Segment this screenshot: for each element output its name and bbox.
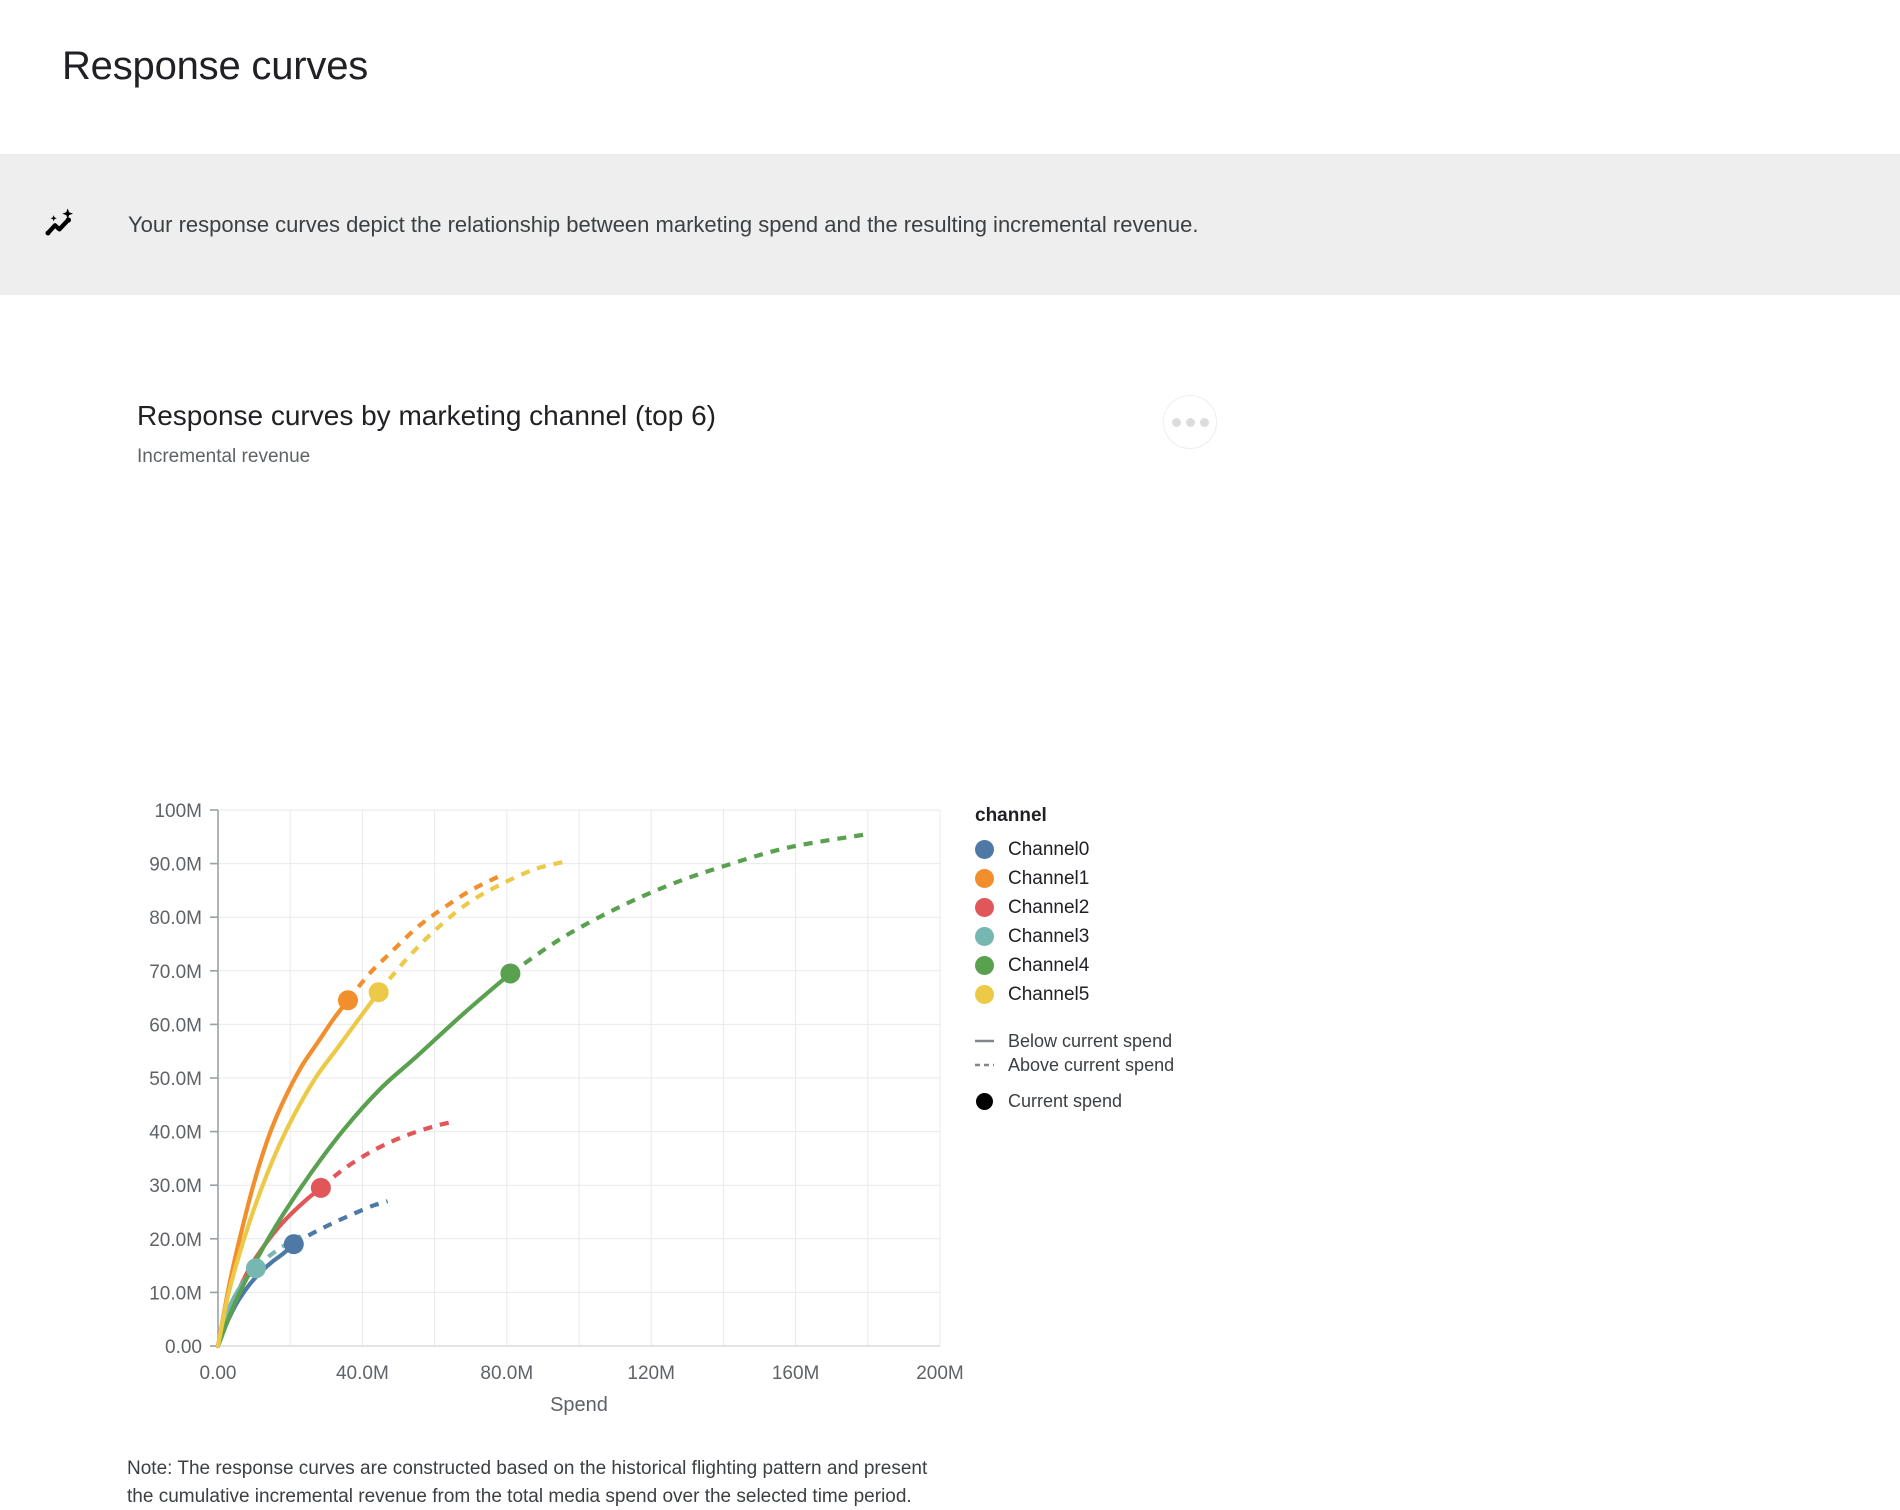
y-axis-tick-label: 60.0M bbox=[149, 1015, 202, 1036]
solid-line-icon bbox=[975, 1037, 994, 1045]
y-axis-tick-label: 100M bbox=[154, 801, 202, 822]
legend-item-label: Above current spend bbox=[1008, 1056, 1174, 1074]
legend-title: channel bbox=[975, 805, 1275, 827]
dashed-line-icon bbox=[975, 1061, 994, 1069]
current-spend-marker-channel1[interactable] bbox=[338, 990, 358, 1010]
legend-swatch-icon bbox=[975, 985, 994, 1004]
legend-divider-space bbox=[975, 1077, 1275, 1089]
legend-swatch-icon bbox=[975, 869, 994, 888]
chart-legend: channel Channel0 Channel1 Channel2 Chann… bbox=[975, 805, 1275, 1113]
legend-item-channel0[interactable]: Channel0 bbox=[975, 835, 1275, 864]
info-banner-text: Your response curves depict the relation… bbox=[128, 210, 1199, 240]
response-curves-plot: 0.0010.0M20.0M30.0M40.0M50.0M60.0M70.0M8… bbox=[0, 295, 1000, 1435]
current-spend-marker-channel2[interactable] bbox=[311, 1178, 331, 1198]
x-axis-tick-label: 40.0M bbox=[336, 1363, 389, 1384]
legend-item-above-current-spend[interactable]: Above current spend bbox=[975, 1053, 1275, 1077]
legend-swatch-icon bbox=[975, 956, 994, 975]
curve-above-current-spend-channel5[interactable] bbox=[379, 861, 569, 992]
legend-item-label: Channel1 bbox=[1008, 869, 1089, 888]
legend-item-channel5[interactable]: Channel5 bbox=[975, 980, 1275, 1009]
ellipsis-dot-icon bbox=[1200, 418, 1209, 427]
x-axis-tick-label: 80.0M bbox=[480, 1363, 533, 1384]
page-header: Response curves bbox=[0, 0, 1900, 155]
legend-swatch-icon bbox=[975, 898, 994, 917]
current-spend-marker-channel0[interactable] bbox=[284, 1234, 304, 1254]
page-title: Response curves bbox=[62, 44, 1900, 88]
y-axis-tick-label: 30.0M bbox=[149, 1176, 202, 1197]
legend-swatch-icon bbox=[975, 927, 994, 946]
current-spend-marker-channel3[interactable] bbox=[246, 1258, 266, 1278]
x-axis-tick-label: 0.00 bbox=[200, 1363, 237, 1384]
legend-swatch-icon bbox=[975, 840, 994, 859]
legend-item-label: Channel0 bbox=[1008, 840, 1089, 859]
legend-item-below-current-spend[interactable]: Below current spend bbox=[975, 1029, 1275, 1053]
x-axis-tick-label: 160M bbox=[772, 1363, 820, 1384]
current-spend-dot-icon bbox=[976, 1093, 993, 1110]
y-axis-tick-label: 70.0M bbox=[149, 962, 202, 983]
chart-note: Note: The response curves are constructe… bbox=[127, 1455, 957, 1510]
ellipsis-dot-icon bbox=[1186, 418, 1195, 427]
legend-divider-space bbox=[975, 1009, 1275, 1029]
curve-above-current-spend-channel0[interactable] bbox=[294, 1201, 388, 1244]
legend-item-channel4[interactable]: Channel4 bbox=[975, 951, 1275, 980]
ellipsis-dot-icon bbox=[1172, 418, 1181, 427]
legend-item-current-spend[interactable]: Current spend bbox=[975, 1089, 1275, 1113]
current-spend-marker-channel4[interactable] bbox=[500, 963, 520, 983]
y-axis-tick-label: 40.0M bbox=[149, 1123, 202, 1144]
legend-item-label: Below current spend bbox=[1008, 1032, 1172, 1050]
legend-item-channel1[interactable]: Channel1 bbox=[975, 864, 1275, 893]
chart-canvas[interactable]: 0.0010.0M20.0M30.0M40.0M50.0M60.0M70.0M8… bbox=[0, 295, 1000, 1435]
insights-sparkle-icon bbox=[38, 202, 84, 248]
more-options-button[interactable] bbox=[1163, 395, 1217, 449]
legend-item-channel3[interactable]: Channel3 bbox=[975, 922, 1275, 951]
y-axis-tick-label: 20.0M bbox=[149, 1230, 202, 1251]
curve-above-current-spend-channel4[interactable] bbox=[510, 834, 867, 973]
y-axis-tick-label: 10.0M bbox=[149, 1283, 202, 1304]
y-axis-tick-label: 90.0M bbox=[149, 855, 202, 876]
y-axis-tick-label: 0.00 bbox=[165, 1337, 202, 1358]
current-spend-marker-channel5[interactable] bbox=[369, 982, 389, 1002]
y-axis-tick-label: 50.0M bbox=[149, 1069, 202, 1090]
info-banner: Your response curves depict the relation… bbox=[0, 155, 1900, 295]
legend-item-label: Current spend bbox=[1008, 1092, 1122, 1110]
x-axis-tick-label: 200M bbox=[916, 1363, 964, 1384]
x-axis-title: Spend bbox=[550, 1394, 608, 1416]
legend-item-label: Channel2 bbox=[1008, 898, 1089, 917]
legend-item-channel2[interactable]: Channel2 bbox=[975, 893, 1275, 922]
legend-item-label: Channel3 bbox=[1008, 927, 1089, 946]
x-axis-tick-label: 120M bbox=[627, 1363, 675, 1384]
legend-item-label: Channel5 bbox=[1008, 985, 1089, 1004]
legend-item-label: Channel4 bbox=[1008, 956, 1089, 975]
y-axis-tick-label: 80.0M bbox=[149, 908, 202, 929]
